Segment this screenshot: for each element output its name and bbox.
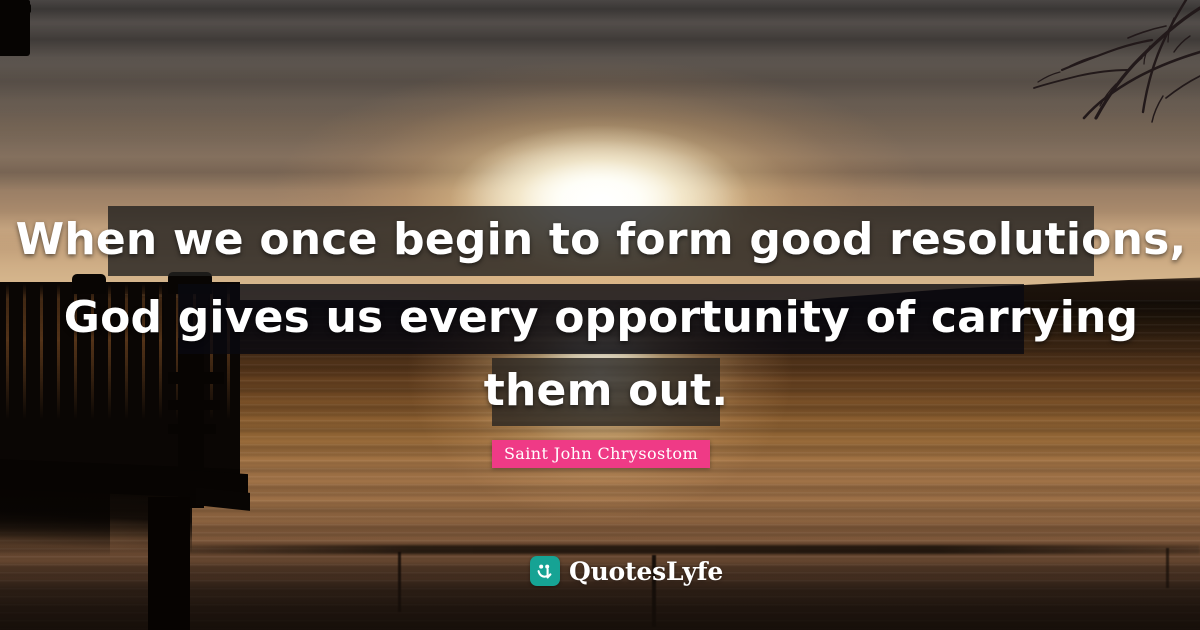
dock-left-mass [0,467,110,557]
tree-branch-silhouette [1000,0,1200,130]
quote-image-canvas: When we once begin to form good resoluti… [0,0,1200,630]
dock-main-post [148,497,190,630]
dock-crossbar-2 [168,400,220,410]
dock-crossbar-3 [168,424,216,434]
top-left-post-knob [20,4,31,13]
logo-wordmark: QuotesLyfe [569,559,723,584]
quote-smiley-icon [530,556,560,586]
quote-line-3: them out. [492,358,720,426]
quoteslyfe-logo[interactable]: QuotesLyfe [530,556,723,586]
author-badge: Saint John Chrysostom [492,440,710,468]
distant-pier-line [150,545,1200,554]
quote-line-2: God gives us every opportunity of carryi… [178,284,1024,354]
author-name: Saint John Chrysostom [504,446,698,462]
dock-crossbar-1 [168,372,224,384]
quote-line-1: When we once begin to form good resoluti… [108,206,1094,276]
